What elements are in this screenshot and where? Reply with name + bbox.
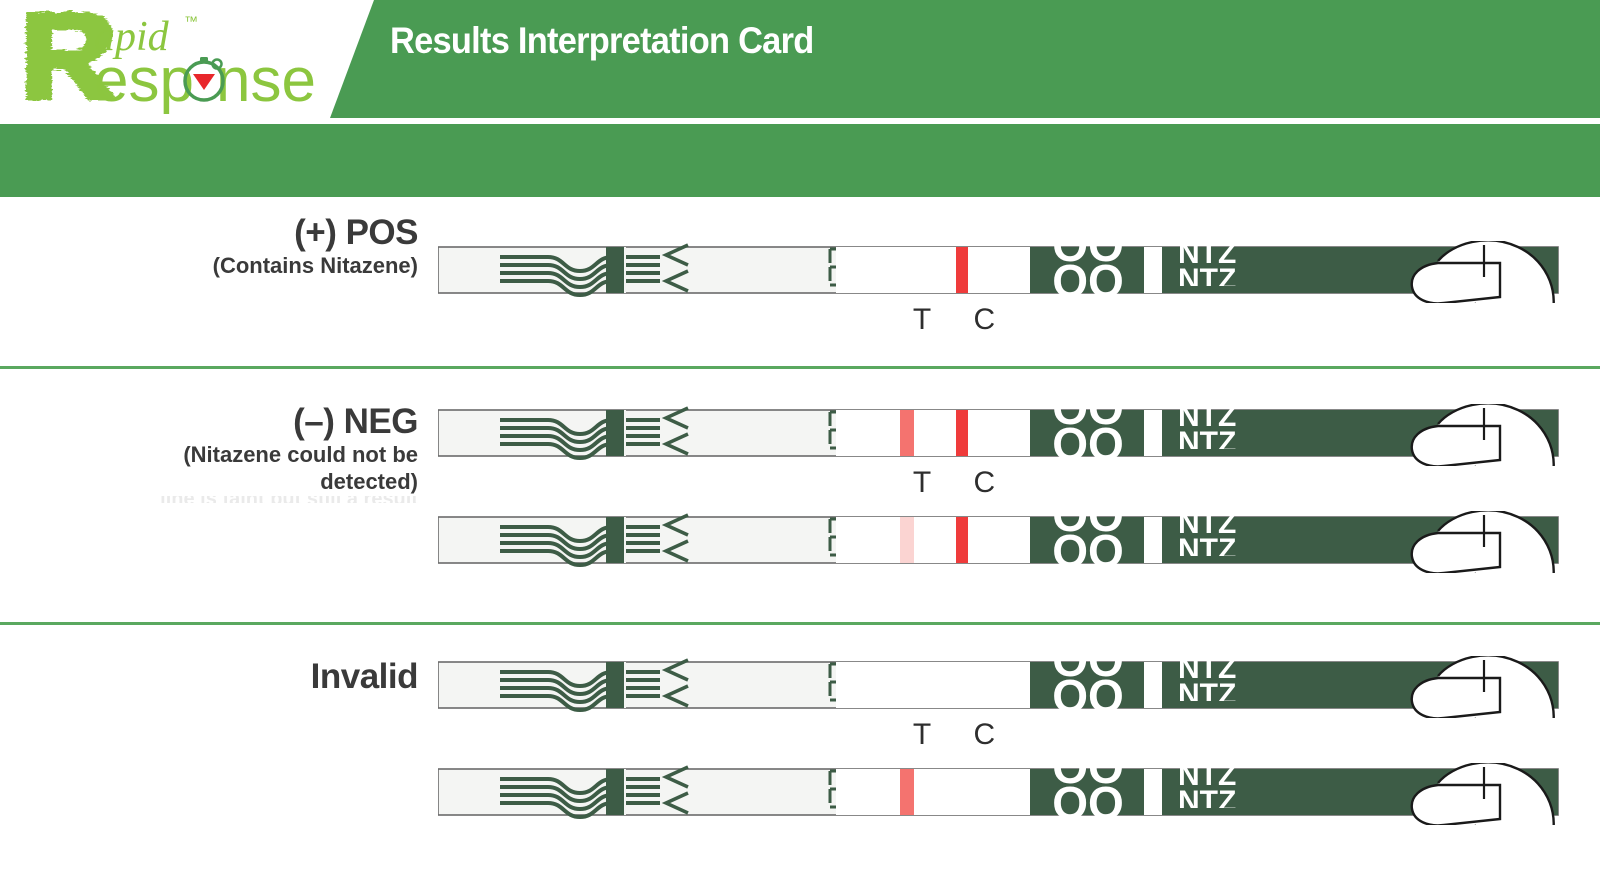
section-label-positive: (+) POS (Contains Nitazene) (0, 215, 418, 279)
test-line (900, 410, 914, 456)
tc-labels-negative: T C (895, 466, 1011, 500)
strip-green-band (606, 517, 624, 563)
control-label-c: C (957, 466, 1011, 500)
test-label-t: T (895, 466, 949, 500)
strip-cassette-code: OO OO (1052, 511, 1124, 573)
test-strip-negative-1: OO OO NTZ NTZ (438, 404, 1558, 451)
control-line (956, 247, 968, 293)
test-line (900, 769, 914, 815)
svg-text:OO: OO (1052, 404, 1124, 434)
negative-title: (–) NEG (0, 404, 418, 441)
positive-title: (+) POS (0, 215, 418, 252)
control-label-c: C (957, 718, 1011, 752)
strip-green-band (606, 410, 624, 456)
test-strip-negative-2: OO OO NTZ NTZ (438, 511, 1558, 558)
control-label-c: C (957, 303, 1011, 337)
svg-text:OO: OO (1052, 656, 1124, 686)
svg-text:OO: OO (1052, 763, 1124, 793)
logo-text-nse: nse (216, 46, 316, 114)
brand-logo: apid ™ esp nse (8, 4, 338, 114)
strip-green-band (606, 662, 624, 708)
strip-cassette-code: OO OO (1052, 404, 1124, 466)
tc-labels-positive: T C (895, 303, 1011, 337)
results-interpretation-card: Results Interpretation Card apid ™ e (0, 0, 1600, 875)
section-divider-2 (0, 622, 1600, 625)
logo-text-esp: esp (94, 46, 194, 114)
control-line (956, 517, 968, 563)
svg-text:OO: OO (1052, 511, 1124, 541)
logo-trademark: ™ (184, 13, 198, 29)
negative-subtitle-line2: detected) (0, 468, 418, 496)
strip-green-band (606, 247, 624, 293)
test-strip-svg-negative-1: OO OO NTZ NTZ (438, 404, 1600, 466)
strip-green-band (606, 769, 624, 815)
test-line (900, 517, 914, 563)
test-strip-positive: OO OO NTZ NTZ (438, 241, 1558, 288)
green-accent-band (0, 124, 1600, 197)
test-strip-invalid-2: OO OO NTZ NTZ (438, 763, 1558, 810)
strip-cassette-code: OO OO (1052, 763, 1124, 825)
test-strip-svg-invalid-2: OO OO NTZ NTZ (438, 763, 1600, 825)
test-strip-svg-positive: OO OO NTZ NTZ (438, 241, 1600, 303)
negative-ghost-text: line is faint but still a result (0, 496, 418, 503)
tc-labels-invalid: T C (895, 718, 1011, 752)
strip-cassette-code: OO OO (1052, 241, 1124, 303)
positive-subtitle: (Contains Nitazene) (0, 252, 418, 280)
test-strip-svg-negative-2: OO OO NTZ NTZ (438, 511, 1600, 573)
negative-subtitle-line1: (Nitazene could not be (0, 441, 418, 469)
svg-text:OO: OO (1052, 241, 1124, 271)
test-label-t: T (895, 718, 949, 752)
test-strip-invalid-1: OO OO NTZ NTZ (438, 656, 1558, 703)
test-strip-svg-invalid-1: OO OO NTZ NTZ (438, 656, 1600, 718)
invalid-title: Invalid (0, 659, 418, 696)
page-title: Results Interpretation Card (390, 20, 813, 62)
brand-logo-svg: apid ™ esp nse (8, 4, 338, 114)
page-header: Results Interpretation Card apid ™ e (0, 0, 1600, 118)
section-label-negative: (–) NEG (Nitazene could not be detected)… (0, 404, 418, 503)
section-label-invalid: Invalid (0, 659, 418, 696)
strip-cassette-code: OO OO (1052, 656, 1124, 718)
section-divider-1 (0, 366, 1600, 369)
control-line (956, 410, 968, 456)
test-label-t: T (895, 303, 949, 337)
